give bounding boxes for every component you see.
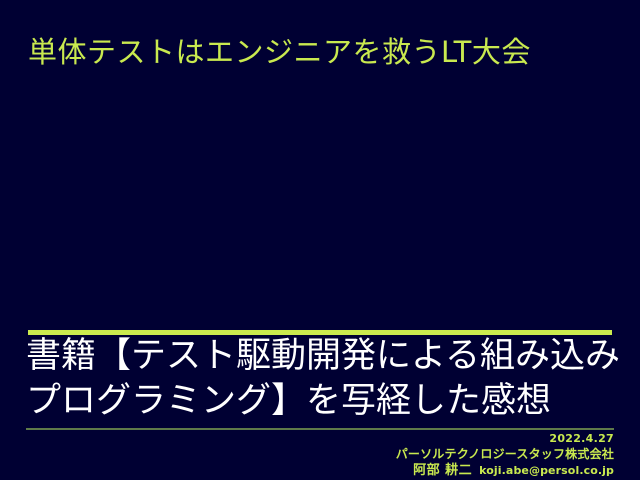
presenter-email: koji.abe@persol.co.jp [479,464,614,477]
event-title: 単体テストはエンジニアを救うLT大会 [28,33,531,72]
presentation-date: 2022.4.27 [194,432,614,446]
presenter-name: 阿部 耕二 [413,463,472,478]
presenter-info: 阿部 耕二koji.abe@persol.co.jp [194,462,614,479]
slide-footer: 2022.4.27 パーソルテクノロジースタッフ株式会社 阿部 耕二koji.a… [194,432,614,479]
slide-main-heading: 書籍【テスト駆動開発による組み込み プログラミング】を写経した感想 [26,334,626,424]
heading-line-2: プログラミング】を写経した感想 [26,379,626,424]
company-name: パーソルテクノロジースタッフ株式会社 [194,446,614,462]
heading-line-1: 書籍【テスト駆動開発による組み込み [26,334,626,379]
presentation-slide: 単体テストはエンジニアを救うLT大会 書籍【テスト駆動開発による組み込み プログ… [0,0,640,480]
footer-divider [26,428,614,430]
